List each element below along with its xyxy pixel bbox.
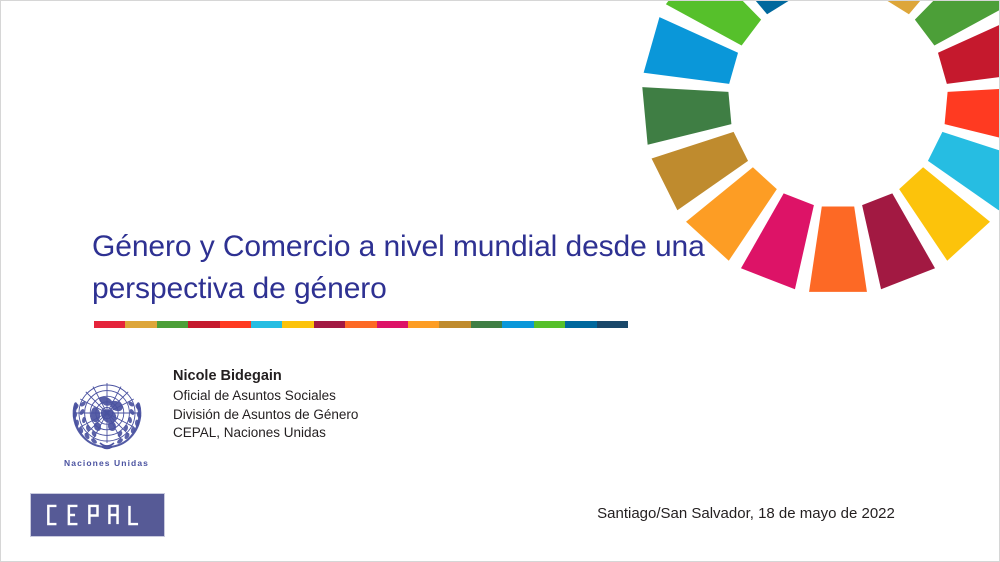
sdg-wheel-segment [915,0,1000,46]
sdg-wheel-segment [809,207,867,292]
presentation-slide: Género y Comercio a nivel mundial desde … [0,0,1000,562]
title-line-2: perspectiva de género [92,268,732,310]
speaker-name: Nicole Bidegain [173,367,358,386]
sdg-wheel-segment [711,0,794,14]
page-title: Género y Comercio a nivel mundial desde … [92,226,732,310]
speaker-division: División de Asuntos de Género [173,406,358,425]
un-logo-caption: Naciones Unidas [44,458,169,468]
title-line-1: Género y Comercio a nivel mundial desde … [92,226,732,268]
sdg-bar-segment [220,321,251,328]
un-emblem-icon [53,377,161,457]
speaker-info: Nicole Bidegain Oficial de Asuntos Socia… [173,367,358,443]
sdg-wheel-segment [666,0,761,46]
sdg-bar-segment [471,321,502,328]
cepal-wordmark-icon [31,494,164,536]
location-date: Santiago/San Salvador, 18 de mayo de 202… [561,504,931,524]
sdg-wheel-segment [938,17,1000,84]
sdg-bar-segment [94,321,125,328]
sdg-bar-segment [125,321,156,328]
sdg-bar-segment [565,321,596,328]
sdg-wheel-segment [928,132,1000,210]
sdg-wheel-segment [899,167,990,260]
sdg-wheel-segment [642,87,731,145]
sdg-bar-segment [408,321,439,328]
sdg-bar-segment [439,321,470,328]
sdg-wheel-segment [945,87,1000,145]
sdg-color-bar [94,321,628,328]
sdg-wheel-segment [881,0,964,14]
sdg-wheel-segment [741,193,814,289]
sdg-bar-segment [534,321,565,328]
cepal-logo [30,493,165,537]
sdg-wheel-segment [644,17,738,84]
sdg-bar-segment [314,321,345,328]
sdg-bar-segment [251,321,282,328]
sdg-bar-segment [502,321,533,328]
un-logo: Naciones Unidas [44,377,169,468]
sdg-bar-segment [188,321,219,328]
sdg-bar-segment [345,321,376,328]
sdg-bar-segment [157,321,188,328]
sdg-wheel-segment [862,193,935,289]
speaker-role: Oficial de Asuntos Sociales [173,387,358,406]
sdg-bar-segment [282,321,313,328]
sdg-bar-segment [377,321,408,328]
speaker-organization: CEPAL, Naciones Unidas [173,424,358,443]
sdg-wheel-segment [652,132,748,210]
sdg-bar-segment [597,321,628,328]
